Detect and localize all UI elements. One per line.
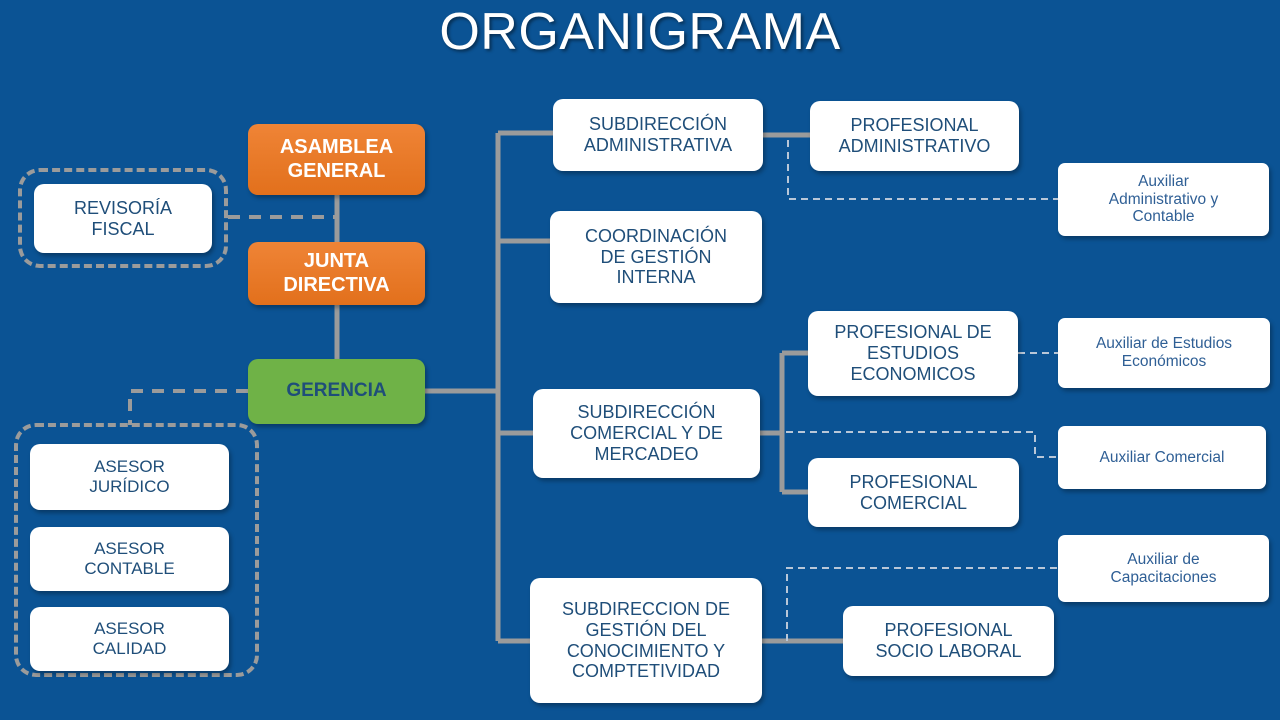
node-subdireccion-administrativa[interactable]: SUBDIRECCIÓN ADMINISTRATIVA <box>553 99 763 171</box>
connector-dashed-commercial-auxiliary <box>786 432 1058 457</box>
node-subdireccion-comercial-mercadeo[interactable]: SUBDIRECCIÓN COMERCIAL Y DE MERCADEO <box>533 389 760 478</box>
node-revisoria-fiscal[interactable]: REVISORÍA FISCAL <box>34 184 212 253</box>
node-profesional-comercial[interactable]: PROFESIONAL COMERCIAL <box>808 458 1019 527</box>
node-profesional-administrativo[interactable]: PROFESIONAL ADMINISTRATIVO <box>810 101 1019 171</box>
node-asamblea-general[interactable]: ASAMBLEA GENERAL <box>248 124 425 195</box>
organigrama-canvas: ORGANIGRAMA <box>0 0 1280 720</box>
node-auxiliar-administrativo-contable[interactable]: Auxiliar Administrativo y Contable <box>1058 163 1269 236</box>
node-coordinacion-gestion-interna[interactable]: COORDINACIÓN DE GESTIÓN INTERNA <box>550 211 762 303</box>
node-profesional-estudios-economicos[interactable]: PROFESIONAL DE ESTUDIOS ECONOMICOS <box>808 311 1018 396</box>
node-asesor-calidad[interactable]: ASESOR CALIDAD <box>30 607 229 671</box>
node-auxiliar-estudios-economicos[interactable]: Auxiliar de Estudios Económicos <box>1058 318 1270 388</box>
node-auxiliar-comercial[interactable]: Auxiliar Comercial <box>1058 426 1266 489</box>
node-asesor-juridico[interactable]: ASESOR JURÍDICO <box>30 444 229 510</box>
node-profesional-socio-laboral[interactable]: PROFESIONAL SOCIO LABORAL <box>843 606 1054 676</box>
connector-dashed-management-advisors <box>130 391 248 425</box>
node-auxiliar-capacitaciones[interactable]: Auxiliar de Capacitaciones <box>1058 535 1269 602</box>
node-subdireccion-gestion-conocimiento[interactable]: SUBDIRECCION DE GESTIÓN DEL CONOCIMIENTO… <box>530 578 762 703</box>
page-title: ORGANIGRAMA <box>0 2 1280 62</box>
node-gerencia[interactable]: GERENCIA <box>248 359 425 424</box>
node-junta-directiva[interactable]: JUNTA DIRECTIVA <box>248 242 425 305</box>
node-asesor-contable[interactable]: ASESOR CONTABLE <box>30 527 229 591</box>
